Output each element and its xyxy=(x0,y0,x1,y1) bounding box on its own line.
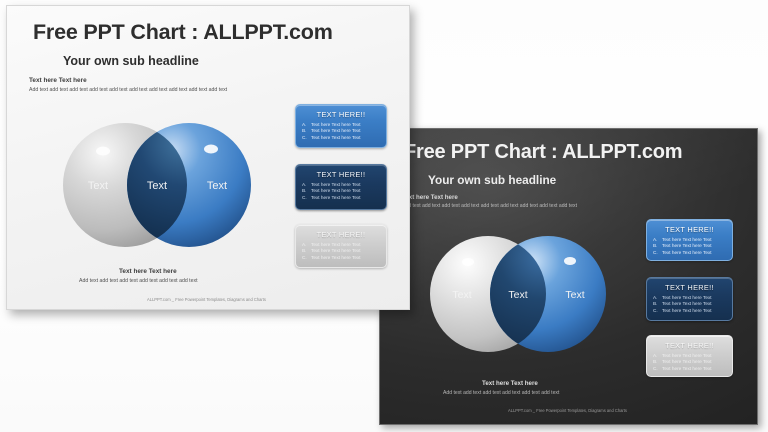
callout-list: A.Text here Text here Text B.Text here T… xyxy=(653,237,726,256)
lead-body-text: Add text add text add text add text add … xyxy=(402,203,577,209)
specular-highlight-left xyxy=(462,258,474,266)
venn-label-left: Text xyxy=(452,289,471,301)
callout-item-key: C. xyxy=(302,255,311,261)
slide-title: Free PPT Chart : ALLPPT.com xyxy=(404,141,682,164)
venn-label-left: Text xyxy=(88,180,108,192)
venn-diagram: Text Text Text xyxy=(53,120,261,250)
bottom-heading: Text here Text here xyxy=(119,268,177,275)
lead-body-text: Add text add text add text add text add … xyxy=(29,87,227,93)
callout-list: A.Text here Text here Text B.Text here T… xyxy=(653,295,726,314)
venn-diagram: Text Text Text xyxy=(420,233,616,355)
callout-item-text: Text here Text here Text xyxy=(662,366,726,372)
specular-highlight-right xyxy=(564,257,576,265)
callout-title: TEXT HERE!! xyxy=(302,110,380,119)
venn-svg: Text Text Text xyxy=(420,233,616,355)
callout-item-key: C. xyxy=(653,366,662,372)
callout-list: A.Text here Text here Text B.Text here T… xyxy=(302,242,380,261)
callout-item-key: C. xyxy=(302,195,311,201)
callout-item-text: Text here Text here Text xyxy=(662,308,726,314)
callout-box-3[interactable]: TEXT HERE!! A.Text here Text here Text B… xyxy=(646,335,733,377)
callout-item-text: Text here Text here Text xyxy=(311,135,380,141)
slide-preview-canvas: Free PPT Chart : ALLPPT.com Your own sub… xyxy=(0,0,768,432)
slide-light[interactable]: Free PPT Chart : ALLPPT.com Your own sub… xyxy=(6,5,410,310)
callout-box-2[interactable]: TEXT HERE!! A.Text here Text here Text B… xyxy=(295,164,387,210)
callout-list: A.Text here Text here Text B.Text here T… xyxy=(302,182,380,201)
specular-highlight-right xyxy=(204,145,218,154)
slide-footer: ALLPPT.com _ Free Powerpoint Templates, … xyxy=(508,408,627,413)
callout-item-text: Text here Text here Text xyxy=(662,250,726,256)
specular-highlight-left xyxy=(96,147,110,156)
callout-item-text: Text here Text here Text xyxy=(311,195,380,201)
bottom-heading: Text here Text here xyxy=(482,380,538,387)
lead-heading: Text here Text here xyxy=(29,77,87,84)
callout-list-item: C.Text here Text here Text xyxy=(653,250,726,256)
venn-svg: Text Text Text xyxy=(53,120,261,250)
callout-list-item: C.Text here Text here Text xyxy=(653,366,726,372)
callout-item-key: C. xyxy=(653,308,662,314)
callout-list: A.Text here Text here Text B.Text here T… xyxy=(653,353,726,372)
slide-subtitle: Your own sub headline xyxy=(428,173,556,187)
slide-subtitle: Your own sub headline xyxy=(63,54,199,68)
callout-list-item: C.Text here Text here Text xyxy=(302,255,380,261)
lead-heading: Text here Text here xyxy=(402,194,458,201)
callout-item-key: C. xyxy=(302,135,311,141)
venn-label-center: Text xyxy=(147,180,167,192)
callout-item-key: C. xyxy=(653,250,662,256)
callout-item-text: Text here Text here Text xyxy=(311,255,380,261)
bottom-body-text: Add text add text add text add text add … xyxy=(79,278,198,284)
callout-box-3[interactable]: TEXT HERE!! A.Text here Text here Text B… xyxy=(295,224,387,268)
callout-box-2[interactable]: TEXT HERE!! A.Text here Text here Text B… xyxy=(646,277,733,321)
bottom-body-text: Add text add text add text add text add … xyxy=(443,390,559,396)
callout-list: A.Text here Text here Text B.Text here T… xyxy=(302,122,380,141)
callout-list-item: C.Text here Text here Text xyxy=(302,195,380,201)
callout-title: TEXT HERE!! xyxy=(653,341,726,350)
slide-title: Free PPT Chart : ALLPPT.com xyxy=(33,20,333,45)
venn-label-right: Text xyxy=(207,180,227,192)
callout-box-1[interactable]: TEXT HERE!! A.Text here Text here Text B… xyxy=(646,219,733,261)
callout-box-1[interactable]: TEXT HERE!! A.Text here Text here Text B… xyxy=(295,104,387,148)
callout-title: TEXT HERE!! xyxy=(302,230,380,239)
venn-label-center: Text xyxy=(508,289,527,301)
callout-title: TEXT HERE!! xyxy=(302,170,380,179)
callout-list-item: C.Text here Text here Text xyxy=(302,135,380,141)
callout-title: TEXT HERE!! xyxy=(653,283,726,292)
slide-footer: ALLPPT.com _ Free Powerpoint Templates, … xyxy=(147,297,266,302)
callout-title: TEXT HERE!! xyxy=(653,225,726,234)
callout-list-item: C.Text here Text here Text xyxy=(653,308,726,314)
venn-label-right: Text xyxy=(565,289,584,301)
slide-dark[interactable]: Free PPT Chart : ALLPPT.com Your own sub… xyxy=(379,128,758,425)
